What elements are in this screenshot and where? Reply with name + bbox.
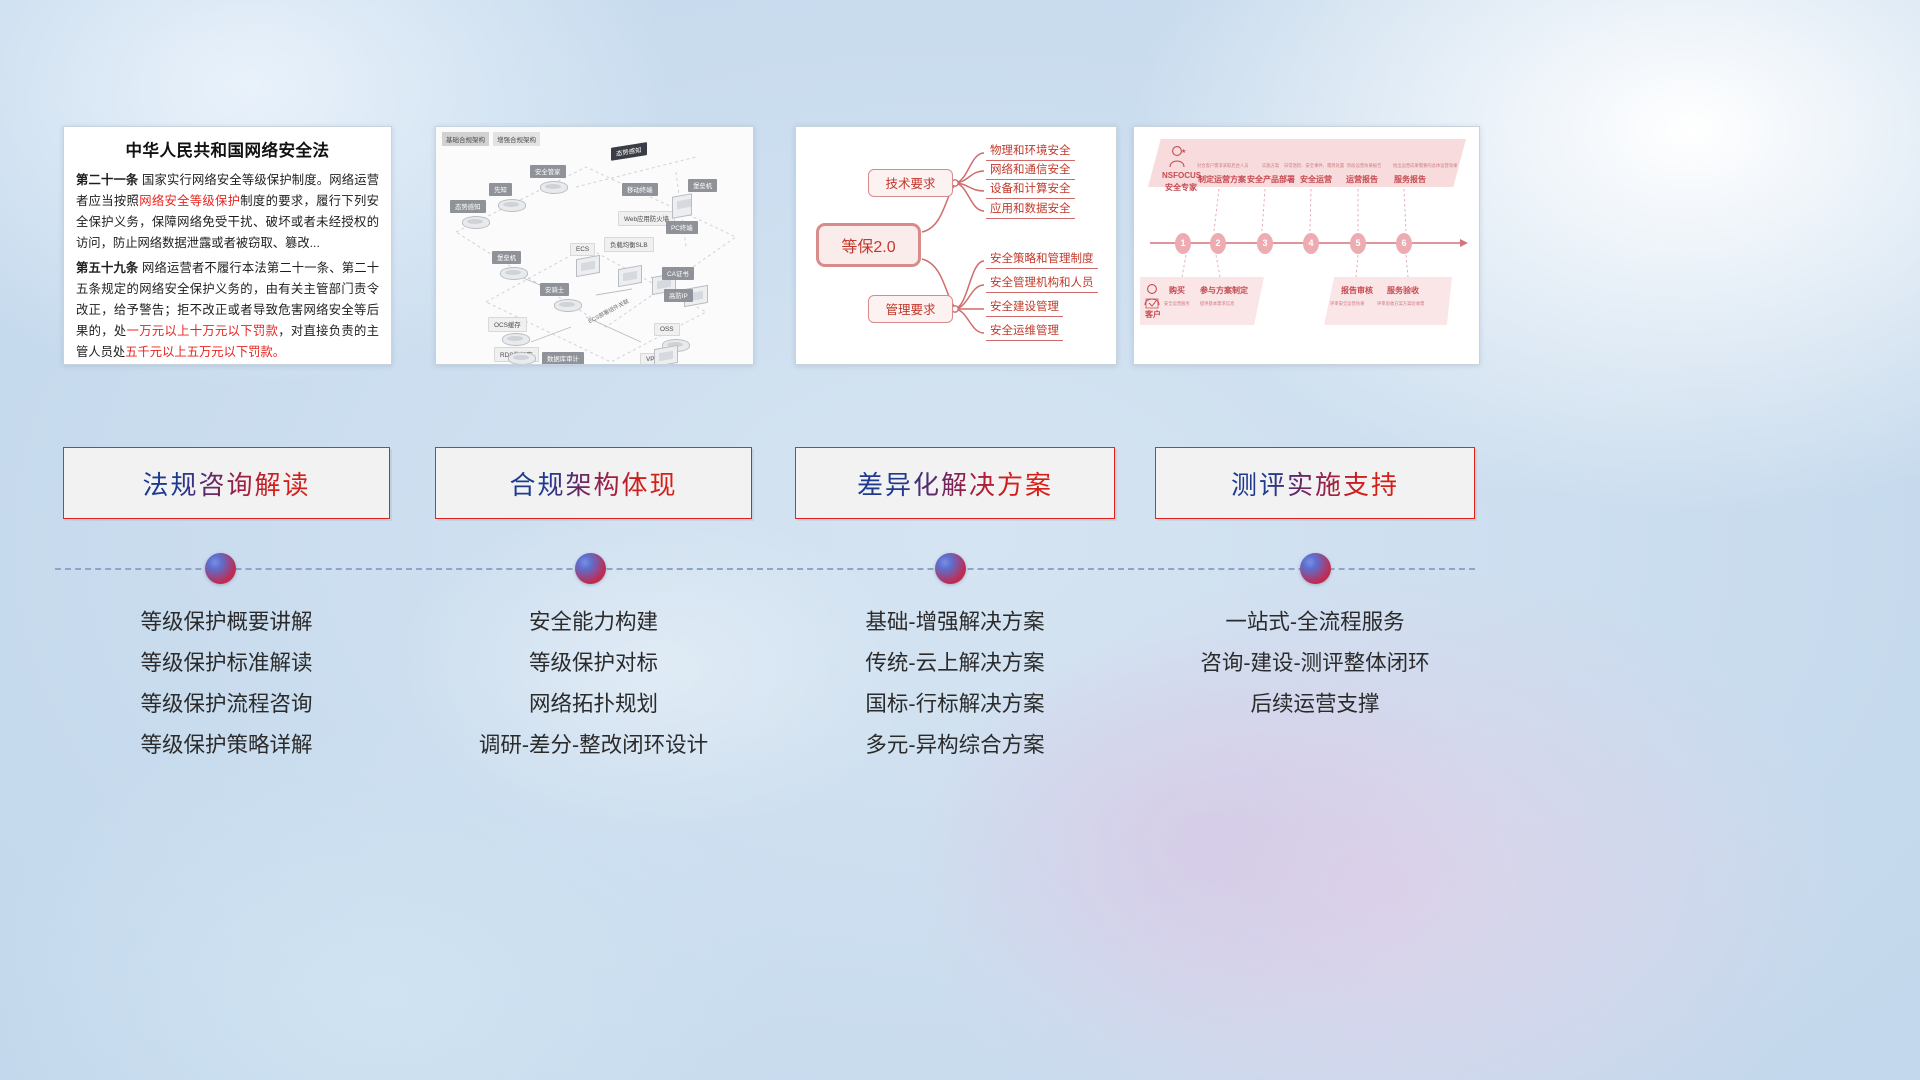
button-label-2: 合规架构体现	[509, 465, 677, 502]
timeline-dot-4[interactable]	[1300, 553, 1331, 584]
cards-row: 中华人民共和国网络安全法 第二十一条 国家实行网络安全等级保护制度。网络运营者应…	[0, 126, 1920, 366]
mindmap-leaf-m4[interactable]: 安全运维管理	[986, 321, 1063, 341]
card-architecture-diagram[interactable]: 基础合规架构 增强合规架构 态势感知	[435, 126, 754, 365]
list-item: 等级保护标准解读	[63, 643, 390, 684]
timeline-top-sub-1: 对合客户需求采取后台人员	[1197, 163, 1249, 169]
timeline-top-main-1: 制定运营方案	[1198, 174, 1246, 185]
list-item: 等级保护对标	[435, 643, 752, 684]
timeline-top-sub-5: 给出运营成果需要的总体运营效果	[1393, 163, 1457, 169]
timeline-step-number-5[interactable]: 5	[1350, 233, 1366, 254]
button-differentiated-solution[interactable]: 差异化解决方案	[795, 447, 1115, 519]
list-item: 后续运营支撑	[1155, 684, 1475, 725]
list-item: 安全能力构建	[435, 602, 752, 643]
timeline-step-number-2[interactable]: 2	[1210, 233, 1226, 254]
icon-cylinder-5	[554, 296, 580, 313]
list-item: 传统-云上解决方案	[795, 643, 1115, 684]
law-article-label-1: 第二十一条	[76, 173, 138, 187]
timeline-dot-1[interactable]	[205, 553, 236, 584]
node-security-butler[interactable]: 安全管家	[530, 165, 566, 178]
timeline-dot-2[interactable]	[575, 553, 606, 584]
node-pc-terminal[interactable]: PC终端	[666, 221, 698, 234]
law-document: 中华人民共和国网络安全法 第二十一条 国家实行网络安全等级保护制度。网络运营者应…	[64, 127, 391, 364]
card-law-text[interactable]: 中华人民共和国网络安全法 第二十一条 国家实行网络安全等级保护制度。网络运营者应…	[63, 126, 392, 365]
timeline-bottom-main-3: 报告审核	[1341, 285, 1373, 296]
list-item: 等级保护概要讲解	[63, 602, 390, 643]
mindmap-leaf-t2[interactable]: 网络和通信安全	[986, 160, 1075, 180]
timeline-top-sub-3: 日常巡检、安全事件、需周处置	[1284, 163, 1344, 169]
mindmap-leaf-m2[interactable]: 安全管理机构和人员	[986, 273, 1098, 293]
timeline-top-main-2: 安全产品部署	[1247, 174, 1295, 185]
timeline-bottom-sub-1: 安全运营服务	[1164, 301, 1190, 307]
architecture-canvas: 基础合规架构 增强合规架构 态势感知	[436, 127, 753, 364]
card-mindmap[interactable]: 等保2.0 技术要求 管理要求 物理和环境安全 网络和通信安全 设备和计算安全 …	[795, 126, 1117, 365]
icon-cylinder-3	[540, 178, 566, 195]
svg-text:★: ★	[1181, 148, 1186, 155]
law-seg-2-3: 五千元以上五万元以下罚款。	[125, 345, 285, 359]
node-slb[interactable]: 负载均衡SLB	[604, 237, 654, 252]
law-title: 中华人民共和国网络安全法	[76, 137, 379, 161]
law-seg-2-1: 一万元以上十万元以下罚款	[127, 324, 279, 338]
node-ecs[interactable]: ECS	[570, 243, 595, 256]
mindmap-leaf-m3[interactable]: 安全建设管理	[986, 297, 1063, 317]
timeline-bottom-sub-4: 评审验收方案方案验收需	[1377, 301, 1424, 307]
timeline-top-main-4: 运营报告	[1346, 174, 1378, 185]
node-ca-cert[interactable]: CA证书	[662, 267, 694, 280]
icon-cylinder-2	[498, 196, 524, 213]
timeline-step-number-3[interactable]: 3	[1257, 233, 1273, 254]
button-regulation-consulting[interactable]: 法规咨询解读	[63, 447, 390, 519]
button-compliance-architecture[interactable]: 合规架构体现	[435, 447, 752, 519]
timeline-step-number-4[interactable]: 4	[1303, 233, 1319, 254]
list-item: 网络拓扑规划	[435, 684, 752, 725]
mindmap-leaf-t1[interactable]: 物理和环境安全	[986, 141, 1075, 161]
timeline-customer-label: 客户	[1145, 309, 1161, 320]
timeline-top-main-3: 安全运营	[1300, 174, 1332, 185]
list-regulation-consulting: 等级保护概要讲解 等级保护标准解读 等级保护流程咨询 等级保护策略详解	[63, 602, 390, 766]
list-assessment-support: 一站式-全流程服务 咨询-建设-测评整体闭环 后续运营支撑	[1155, 602, 1475, 725]
button-label-1: 法规咨询解读	[142, 465, 310, 502]
law-article-label-2: 第五十九条	[76, 261, 138, 275]
list-item: 调研-差分-整改闭环设计	[435, 725, 752, 766]
node-db-audit[interactable]: 数据库审计	[542, 352, 584, 365]
timeline-top-sub-4: 阶段运营效果报告	[1347, 163, 1381, 169]
timeline-bottom-main-1: 购买	[1169, 285, 1185, 296]
law-seg-1-1: 网络安全等级保护	[139, 194, 240, 208]
icon-cylinder-6	[502, 330, 528, 347]
icon-terminal-1	[672, 195, 692, 217]
node-bastion-host[interactable]: 堡垒机	[492, 251, 521, 264]
list-item: 咨询-建设-测评整体闭环	[1155, 643, 1475, 684]
button-label-3: 差异化解决方案	[857, 465, 1053, 502]
card-service-timeline[interactable]: ★ NSFOCUS 安全专家 客户 对合客户需求采取后台人员 制定运营方案 实施…	[1133, 126, 1480, 365]
icon-cylinder-7	[508, 349, 534, 365]
timeline-bottom-sub-3: 评审安全运营效果	[1330, 301, 1364, 307]
mindmap-canvas: 等保2.0 技术要求 管理要求 物理和环境安全 网络和通信安全 设备和计算安全 …	[796, 127, 1116, 364]
timeline-step-number-6[interactable]: 6	[1396, 233, 1412, 254]
list-differentiated-solution: 基础-增强解决方案 传统-云上解决方案 国标-行标解决方案 多元-异构综合方案	[795, 602, 1115, 766]
timeline-dot-3[interactable]	[935, 553, 966, 584]
list-item: 国标-行标解决方案	[795, 684, 1115, 725]
list-compliance-architecture: 安全能力构建 等级保护对标 网络拓扑规划 调研-差分-整改闭环设计	[435, 602, 752, 766]
timeline-top-sub-2: 实施方案	[1262, 163, 1279, 169]
list-item: 一站式-全流程服务	[1155, 602, 1475, 643]
mindmap-leaf-m1[interactable]: 安全策略和管理制度	[986, 249, 1098, 269]
node-anqishi[interactable]: 安骑士	[540, 283, 569, 296]
law-paragraph-2: 第五十九条 网络运营者不履行本法第二十一条、第二十五条规定的网络安全保护义务的，…	[76, 258, 379, 364]
button-label-4: 测评实施支持	[1231, 465, 1399, 502]
icon-cylinder-4	[500, 264, 526, 281]
timeline-bottom-main-4: 服务验收	[1387, 285, 1419, 296]
list-item: 多元-异构综合方案	[795, 725, 1115, 766]
timeline-axis-line	[55, 568, 1475, 570]
law-paragraph-1: 第二十一条 国家实行网络安全等级保护制度。网络运营者应当按照网络安全等级保护制度…	[76, 170, 379, 255]
button-assessment-support[interactable]: 测评实施支持	[1155, 447, 1475, 519]
icon-box-vpc	[654, 347, 678, 365]
list-item: 等级保护策略详解	[63, 725, 390, 766]
mindmap-leaf-t3[interactable]: 设备和计算安全	[986, 179, 1075, 199]
list-item: 等级保护流程咨询	[63, 684, 390, 725]
node-mobile-terminal[interactable]: 移动终端	[622, 183, 658, 196]
node-bastion-host-2[interactable]: 堡垒机	[688, 179, 717, 192]
timeline-bottom-main-2: 参与方案制定	[1200, 285, 1248, 296]
timeline-top-main-5: 服务报告	[1394, 174, 1426, 185]
mindmap-branch-technical[interactable]: 技术要求	[868, 169, 953, 197]
icon-box-slb	[618, 267, 642, 285]
icon-cylinder-1	[462, 213, 488, 230]
timeline-brand-sub: 安全专家	[1165, 182, 1197, 193]
node-situational-awareness[interactable]: 态势感知	[450, 200, 486, 213]
node-xianzhi[interactable]: 先知	[489, 183, 512, 196]
node-anti-ddos-ip[interactable]: 高防IP	[664, 289, 693, 302]
timeline-step-number-1[interactable]: 1	[1175, 233, 1191, 254]
mindmap-root-node[interactable]: 等保2.0	[816, 223, 921, 267]
mindmap-leaf-t4[interactable]: 应用和数据安全	[986, 199, 1075, 219]
timeline-canvas: ★ NSFOCUS 安全专家 客户 对合客户需求采取后台人员 制定运营方案 实施…	[1134, 127, 1479, 364]
mindmap-branch-management[interactable]: 管理要求	[868, 295, 953, 323]
timeline-brand: NSFOCUS	[1162, 171, 1201, 180]
icon-box-ecs	[576, 257, 600, 275]
list-item: 基础-增强解决方案	[795, 602, 1115, 643]
node-oss[interactable]: OSS	[654, 323, 680, 336]
timeline-bottom-sub-2: 提供基本需求信息	[1200, 301, 1234, 307]
